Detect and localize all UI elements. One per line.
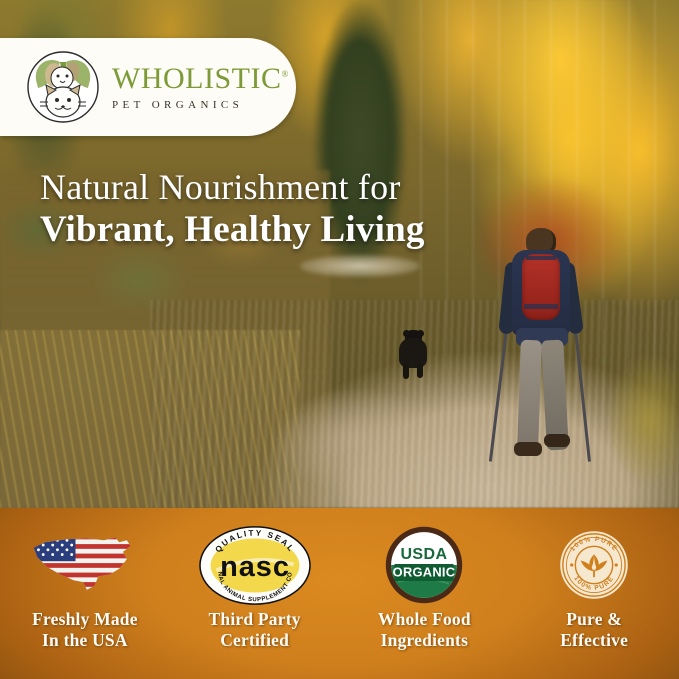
hero-headline: Natural Nourishment for Vibrant, Healthy… xyxy=(40,166,600,253)
hiker-icon xyxy=(492,228,592,473)
svg-text:USDA: USDA xyxy=(401,546,448,563)
badge-label-line-2: In the USA xyxy=(32,630,138,651)
brand-tagline: PET ORGANICS xyxy=(112,99,289,111)
svg-text:nasc: nasc xyxy=(220,551,290,583)
trust-badge-bar: Freshly Made In the USA xyxy=(0,508,679,679)
badge-whole-food-ingredients[interactable]: USDA ORGANIC Whole Food Ingredients xyxy=(340,508,510,679)
svg-text:ORGANIC: ORGANIC xyxy=(393,565,456,580)
usda-organic-seal-icon: USDA ORGANIC xyxy=(384,525,464,605)
badge-label-line-2: Effective xyxy=(560,630,628,651)
badge-label-line-1: Pure & xyxy=(560,609,628,630)
badge-label-line-2: Certified xyxy=(209,630,301,651)
headline-line-2: Vibrant, Healthy Living xyxy=(40,208,600,252)
red-backpack-icon xyxy=(522,254,560,320)
badge-label-line-1: Freshly Made xyxy=(32,609,138,630)
trekking-pole-left-icon xyxy=(489,312,510,461)
badge-label-line-1: Third Party xyxy=(209,609,301,630)
badge-freshly-made-usa[interactable]: Freshly Made In the USA xyxy=(0,508,170,679)
black-dog-icon xyxy=(396,330,430,380)
right-brush xyxy=(600,330,679,508)
brand-wordmark: WHOLISTIC® xyxy=(112,64,289,94)
badge-label: Pure & Effective xyxy=(560,609,628,650)
badge-label: Freshly Made In the USA xyxy=(32,609,138,650)
brand-logo-plate[interactable]: WHOLISTIC® PET ORGANICS xyxy=(0,38,296,136)
promo-banner: WHOLISTIC® PET ORGANICS Natural Nourishm… xyxy=(0,0,679,679)
headline-line-1: Natural Nourishment for xyxy=(40,166,600,208)
badge-third-party-certified[interactable]: QUALITY SEAL nasc NATIONAL ANIMAL SUPPLE… xyxy=(170,508,340,679)
badge-pure-effective[interactable]: 100% PURE 100% PURE Pure & Effective xyxy=(509,508,679,679)
nasc-quality-seal-icon: QUALITY SEAL nasc NATIONAL ANIMAL SUPPLE… xyxy=(197,525,313,605)
badge-label-line-1: Whole Food xyxy=(378,609,471,630)
registered-mark: ® xyxy=(281,69,288,79)
badge-label: Third Party Certified xyxy=(209,609,301,650)
badge-label: Whole Food Ingredients xyxy=(378,609,471,650)
usa-flag-map-icon xyxy=(28,525,142,605)
dog-and-cat-leaf-emblem-icon xyxy=(26,50,100,124)
puddle xyxy=(300,255,420,277)
100-percent-pure-leaf-badge-icon: 100% PURE 100% PURE xyxy=(554,525,634,605)
badge-label-line-2: Ingredients xyxy=(378,630,471,651)
